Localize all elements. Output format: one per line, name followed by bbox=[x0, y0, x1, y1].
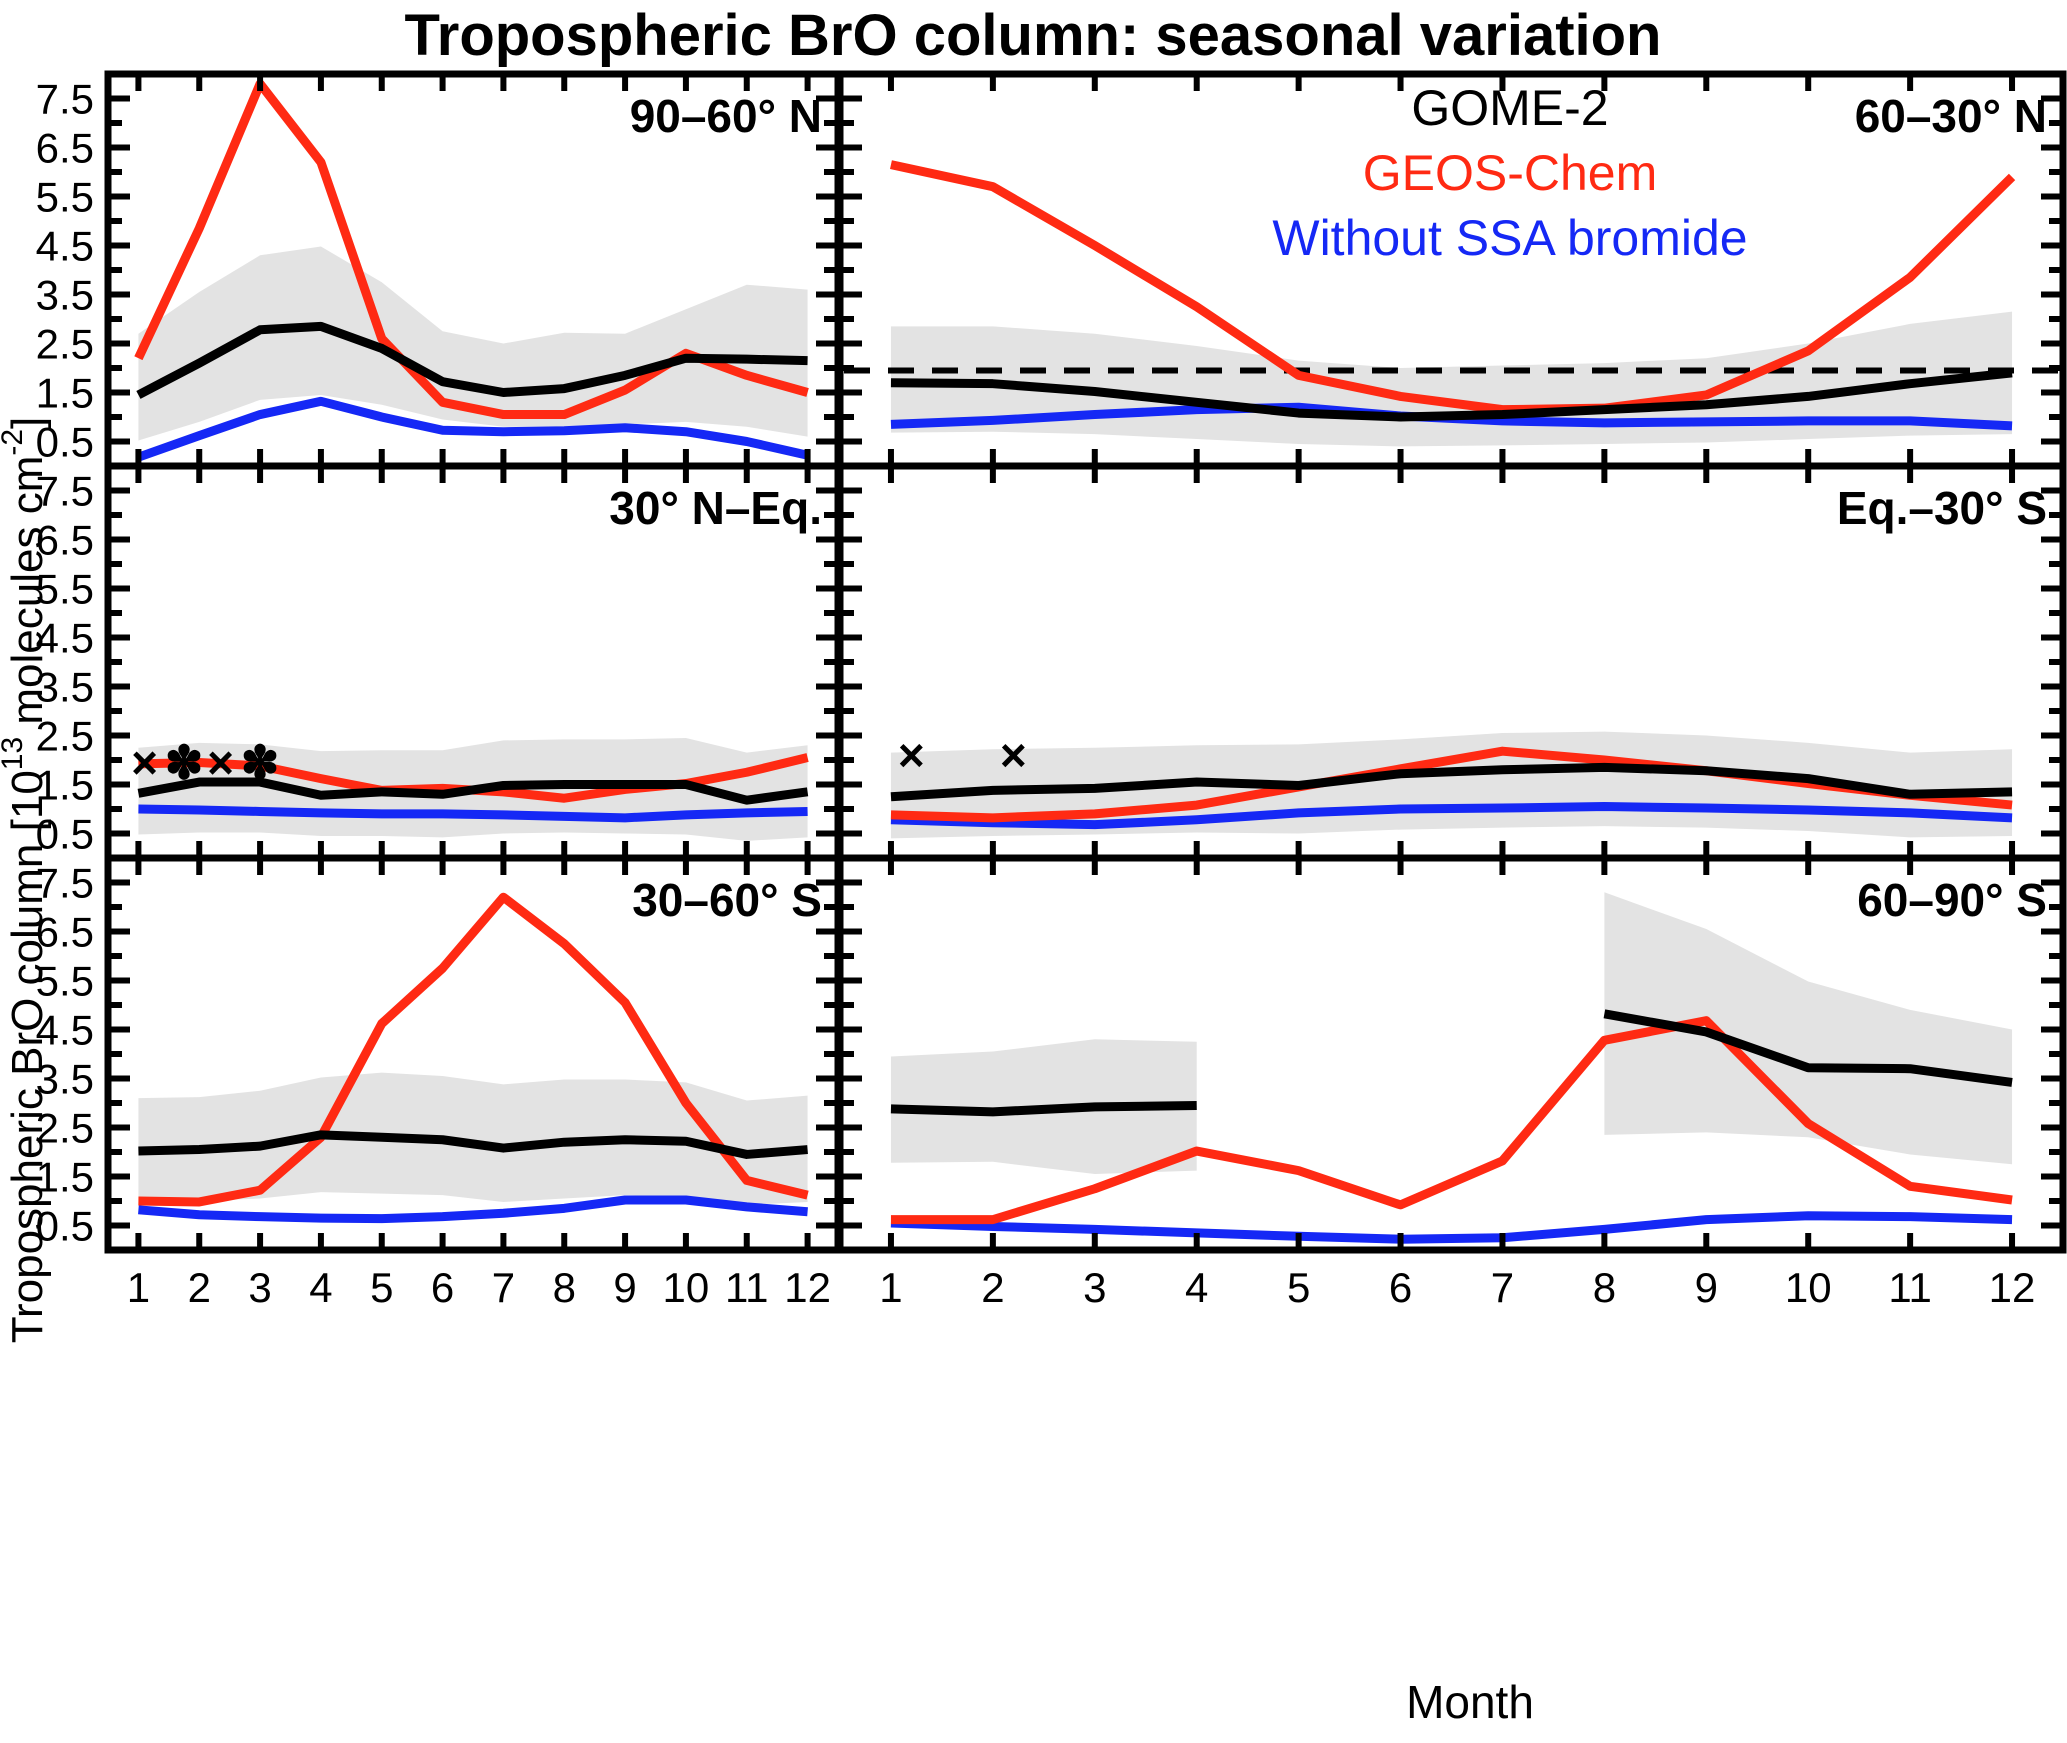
y-tick-label: 7.5 bbox=[36, 76, 94, 123]
x-tick-label: 11 bbox=[1888, 1264, 1932, 1311]
x-tick-label: 6 bbox=[431, 1264, 454, 1311]
panel-label-p60_90S: 60–90° S bbox=[1857, 874, 2047, 926]
panel-label-p90_60N: 90–60° N bbox=[630, 90, 822, 142]
y-tick-label: 0.5 bbox=[36, 811, 94, 858]
y-tick-label: 4.5 bbox=[36, 223, 94, 270]
x-tick-label: 6 bbox=[1389, 1264, 1412, 1311]
x-tick-label: 8 bbox=[1593, 1264, 1616, 1311]
panel-label-pEq_30S: Eq.–30° S bbox=[1837, 482, 2047, 534]
uncertainty-band bbox=[138, 1073, 807, 1205]
y-tick-label: 3.5 bbox=[36, 1056, 94, 1103]
y-tick-label: 0.5 bbox=[36, 419, 94, 466]
x-tick-label: 12 bbox=[784, 1264, 831, 1311]
x-tick-label: 1 bbox=[879, 1264, 902, 1311]
y-tick-label: 5.5 bbox=[36, 174, 94, 221]
y-tick-label: 2.5 bbox=[36, 713, 94, 760]
page-title: Tropospheric BrO column: seasonal variat… bbox=[405, 3, 1662, 68]
y-tick-label: 6.5 bbox=[36, 125, 94, 172]
x-tick-label: 7 bbox=[492, 1264, 515, 1311]
panel-marker: ✽ bbox=[241, 737, 280, 789]
y-tick-label: 2.5 bbox=[36, 321, 94, 368]
panel-marker: × bbox=[131, 737, 158, 789]
y-tick-label: 1.5 bbox=[36, 1154, 94, 1201]
x-tick-label: 4 bbox=[1185, 1264, 1208, 1311]
y-tick-label: 3.5 bbox=[36, 272, 94, 319]
x-tick-label: 5 bbox=[370, 1264, 393, 1311]
y-tick-label: 3.5 bbox=[36, 664, 94, 711]
panel-label-p30_60S: 30–60° S bbox=[632, 874, 822, 926]
y-tick-label: 7.5 bbox=[36, 860, 94, 907]
x-tick-label: 3 bbox=[1083, 1264, 1106, 1311]
panel-marker: × bbox=[1000, 729, 1027, 781]
y-tick-label: 2.5 bbox=[36, 1105, 94, 1152]
panel-marker: ✽ bbox=[165, 737, 204, 789]
x-tick-label: 10 bbox=[1785, 1264, 1832, 1311]
uncertainty-band bbox=[891, 312, 2012, 447]
x-tick-label: 3 bbox=[248, 1264, 271, 1311]
x-axis-label: Month bbox=[1406, 1676, 1534, 1728]
panel-label-p60_30N: 60–30° N bbox=[1855, 90, 2047, 142]
y-tick-label: 1.5 bbox=[36, 370, 94, 417]
y-tick-label: 6.5 bbox=[36, 909, 94, 956]
panel-marker: × bbox=[207, 737, 234, 789]
x-tick-label: 2 bbox=[981, 1264, 1004, 1311]
x-tick-label: 11 bbox=[725, 1264, 769, 1311]
y-tick-label: 5.5 bbox=[36, 958, 94, 1005]
legend-entry-geos-chem: GEOS-Chem bbox=[1363, 145, 1658, 201]
legend-entry-without-ssa-bromide: Without SSA bromide bbox=[1272, 210, 1747, 266]
y-tick-label: 4.5 bbox=[36, 615, 94, 662]
y-tick-label: 0.5 bbox=[36, 1203, 94, 1250]
series-line-without-ssa-bromide bbox=[138, 1200, 807, 1219]
x-tick-label: 5 bbox=[1287, 1264, 1310, 1311]
figure-root: Tropospheric BrO column: seasonal variat… bbox=[0, 0, 2067, 1743]
panel-label-p30N_Eq: 30° N–Eq. bbox=[609, 482, 822, 534]
x-tick-label: 7 bbox=[1491, 1264, 1514, 1311]
x-tick-label: 8 bbox=[553, 1264, 576, 1311]
x-tick-label: 9 bbox=[1695, 1264, 1718, 1311]
x-tick-label: 2 bbox=[188, 1264, 211, 1311]
legend-entry-gome-2: GOME-2 bbox=[1411, 80, 1608, 136]
x-tick-label: 9 bbox=[613, 1264, 636, 1311]
y-tick-label: 7.5 bbox=[36, 468, 94, 515]
series-line-without-ssa-bromide bbox=[891, 1216, 2012, 1240]
y-tick-label: 5.5 bbox=[36, 566, 94, 613]
x-tick-label: 1 bbox=[127, 1264, 150, 1311]
panel-marker: × bbox=[898, 729, 925, 781]
x-tick-label: 12 bbox=[1989, 1264, 2036, 1311]
x-tick-label: 10 bbox=[663, 1264, 710, 1311]
y-tick-label: 6.5 bbox=[36, 517, 94, 564]
y-tick-label: 1.5 bbox=[36, 762, 94, 809]
y-tick-label: 4.5 bbox=[36, 1007, 94, 1054]
x-tick-label: 4 bbox=[309, 1264, 332, 1311]
